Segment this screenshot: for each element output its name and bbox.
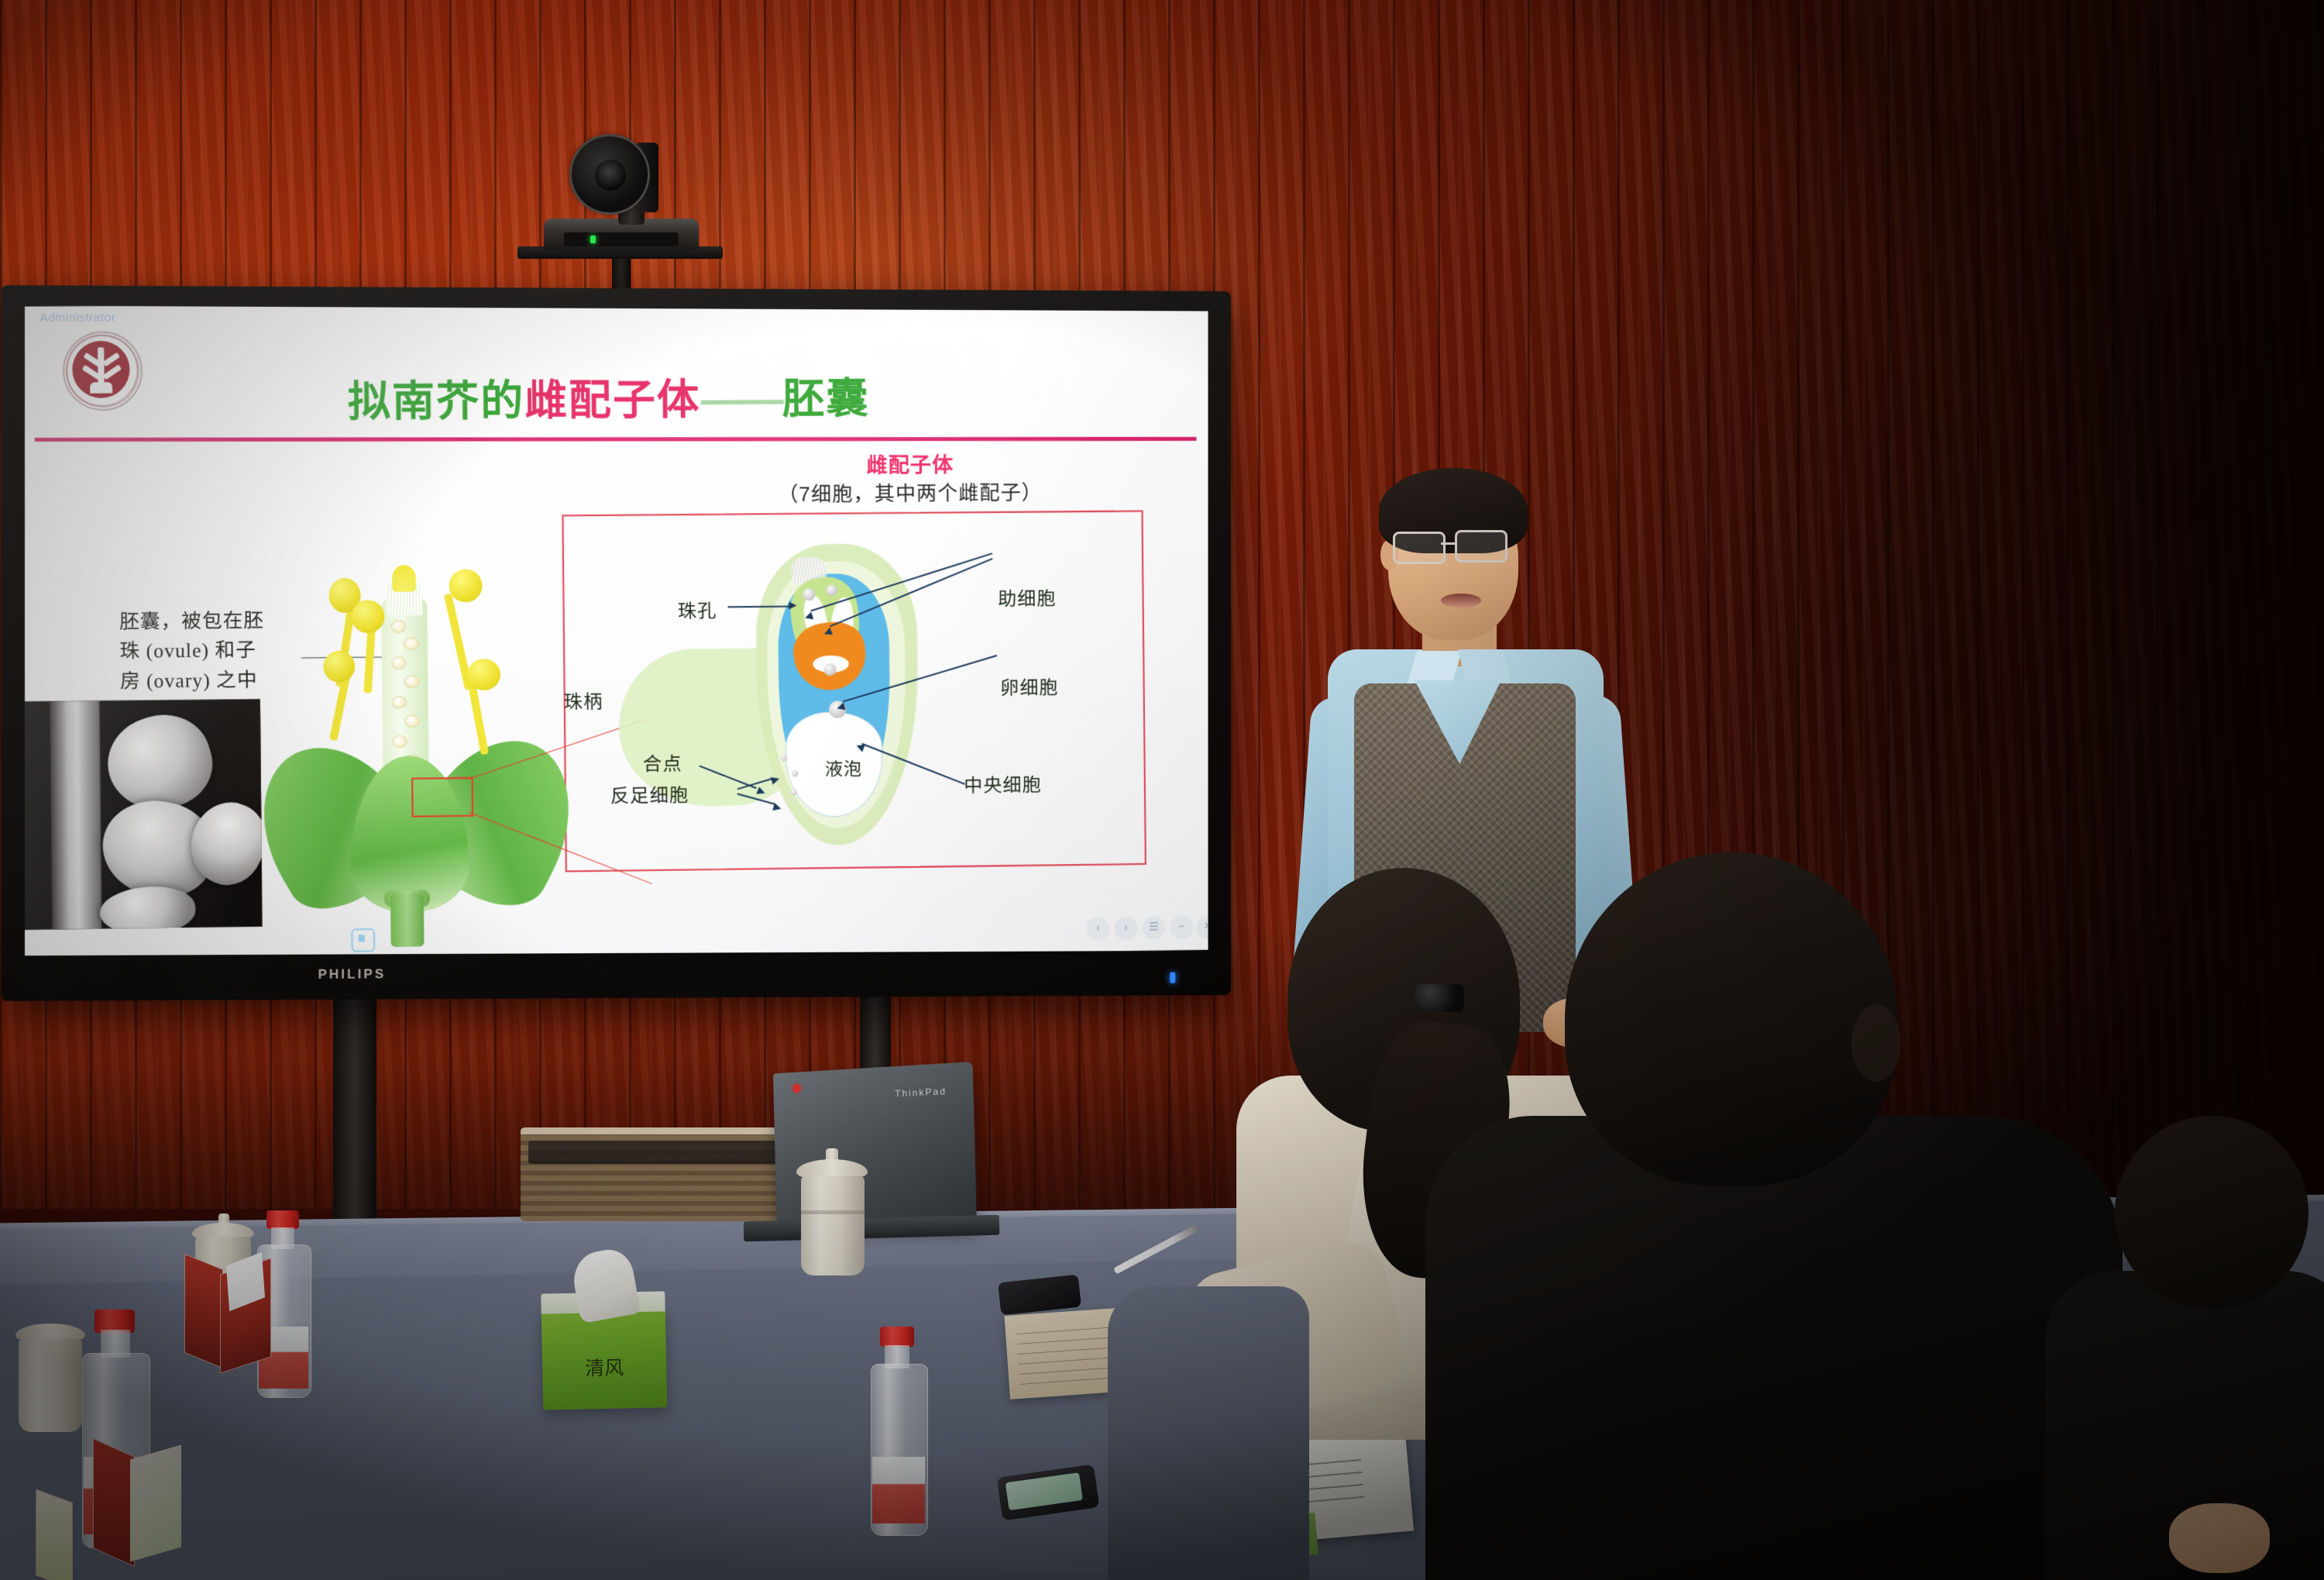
- embryo-sac-diagram: [617, 528, 1058, 870]
- bottle-cap: [880, 1327, 914, 1347]
- label-central-cell: 中央细胞: [964, 769, 1042, 798]
- presentation-room-photo: Administrator 拟南芥的雌配子体——胚囊: [0, 0, 2324, 1580]
- bottle-cap: [266, 1210, 299, 1229]
- silhouette-ear: [1851, 1004, 1901, 1082]
- title-part-highlight: 雌配子体: [524, 377, 701, 425]
- logo-inner-disc: [72, 341, 130, 398]
- menu-icon[interactable]: ☰: [1142, 916, 1165, 940]
- card-right-panel: [130, 1445, 181, 1562]
- ovule-sem-micrograph: [25, 699, 263, 930]
- card-panel: [36, 1489, 73, 1580]
- slide-watermark: Administrator: [40, 311, 115, 325]
- glasses-bridge: [1441, 542, 1455, 545]
- camera-indicator-strip: [564, 232, 679, 246]
- wicker-basket: [521, 1127, 784, 1221]
- laptop-brand-label: ThinkPad: [895, 1086, 947, 1100]
- stamen-filament-5: [467, 680, 489, 756]
- card-left-panel: [184, 1254, 223, 1368]
- synergid-nucleus-1: [803, 588, 815, 601]
- title-dash: ——: [700, 376, 782, 423]
- right-person-head: [2115, 1116, 2309, 1310]
- camera-lens-icon: [595, 160, 626, 191]
- left-person-shoulder: [1108, 1286, 1309, 1580]
- mug-body: [19, 1339, 82, 1432]
- presenter-mouth: [1441, 594, 1481, 608]
- label-antipodal-cells: 反足细胞: [610, 780, 689, 808]
- bottle-label: [872, 1457, 925, 1523]
- minus-icon[interactable]: −: [1170, 916, 1193, 940]
- zoom-callout-box: [411, 777, 473, 818]
- antipodal-nucleus-2: [792, 770, 798, 776]
- label-chalaza: 合点: [643, 748, 682, 776]
- flower-stigma: [392, 565, 416, 592]
- tissue-box-brand: 清风: [542, 1351, 667, 1382]
- right-person-hand: [2169, 1503, 2270, 1573]
- peking-university-logo: [62, 331, 143, 411]
- philips-interactive-display[interactable]: Administrator 拟南芥的雌配子体——胚囊: [1, 285, 1230, 1001]
- slide-title: 拟南芥的雌配子体——胚囊: [347, 362, 1100, 429]
- title-part-1: 拟南芥的: [348, 377, 525, 425]
- panel-subheading: （7细胞，其中两个雌配子）: [668, 476, 1151, 508]
- phone-screen[interactable]: [1006, 1472, 1083, 1510]
- arabidopsis-flower-diagram: [246, 540, 582, 946]
- silhouette-head: [1565, 852, 1898, 1186]
- play-icon[interactable]: ›: [1114, 917, 1137, 941]
- title-divider-rule: [35, 437, 1197, 442]
- tissue-box: 清风: [541, 1308, 668, 1410]
- label-funiculus: 珠柄: [564, 686, 603, 714]
- display-screen[interactable]: Administrator 拟南芥的雌配子体——胚囊: [25, 305, 1208, 955]
- display-power-led: [1170, 972, 1175, 983]
- sem-column: [50, 701, 101, 929]
- basket-contents: [528, 1141, 776, 1164]
- stamen-anther-4: [323, 651, 355, 683]
- synergid-nucleus-2: [827, 585, 837, 596]
- title-part-2: 胚囊: [782, 375, 870, 422]
- presentation-slide: Administrator 拟南芥的雌配子体——胚囊: [25, 305, 1208, 955]
- stamen-anther-3: [449, 569, 483, 602]
- label-vacuole: 液泡: [825, 754, 863, 781]
- panel-heading: 雌配子体: [731, 446, 1089, 480]
- stamen-anther-5: [467, 659, 500, 690]
- back-icon[interactable]: ‹: [1086, 917, 1109, 941]
- label-synergid: 助细胞: [998, 583, 1057, 611]
- laptop-logo-dot: [792, 1084, 800, 1093]
- silhouette-body: [1425, 1116, 2123, 1580]
- card-left-panel: [93, 1438, 135, 1567]
- audience-person-right: [2030, 1116, 2324, 1580]
- mug-band: [801, 1210, 865, 1214]
- label-micropyle: 珠孔: [678, 595, 717, 623]
- antipodal-nucleus-3: [791, 789, 797, 795]
- display-brand-label: PHILIPS: [318, 966, 387, 982]
- stamen-anther-2: [351, 600, 384, 633]
- egg-nucleus: [823, 663, 836, 676]
- display-stand-left: [333, 997, 376, 1229]
- close-icon[interactable]: ✕: [1196, 915, 1208, 939]
- mug-body: [801, 1176, 865, 1275]
- camera-power-led: [590, 236, 596, 243]
- annotate-icon[interactable]: [351, 928, 375, 952]
- antipodal-nucleus-1: [781, 755, 787, 761]
- label-egg-cell: 卵细胞: [1000, 672, 1059, 700]
- glasses-lens-left: [1393, 532, 1446, 564]
- flower-pedicel: [390, 893, 425, 947]
- audience-person-left-edge: [1108, 1240, 1309, 1580]
- glasses-lens-right: [1455, 530, 1508, 563]
